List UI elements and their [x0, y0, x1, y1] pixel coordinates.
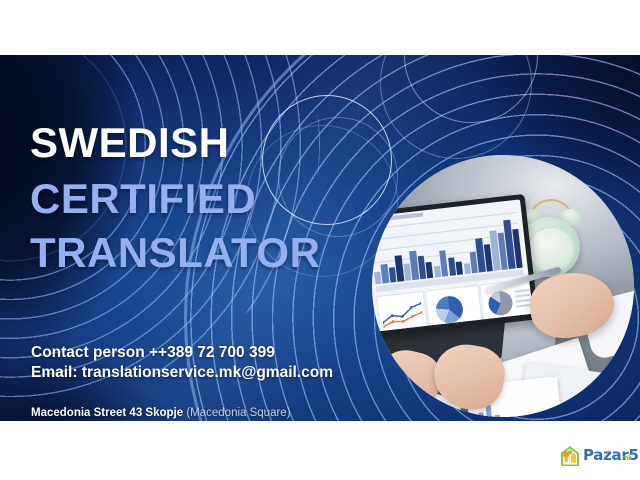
address-note: (Macedonia Square)	[186, 407, 290, 419]
pazar5-house-bag-icon	[558, 445, 582, 468]
pazar5-logo-suffix: .mk	[620, 455, 632, 462]
headline-block: SWEDISH CERTIFIED TRANSLATOR	[30, 118, 390, 278]
chart-bar	[448, 257, 456, 276]
dashboard-line-chart-panel	[376, 291, 428, 332]
headline-line-swedish: SWEDISH	[30, 118, 390, 168]
address-street: Macedonia Street 43 Skopje	[31, 407, 183, 419]
chart-gridline	[372, 212, 516, 230]
advertisement-banner-page: SWEDISH CERTIFIED TRANSLATOR Contact per…	[0, 0, 640, 480]
laptop-lid	[372, 194, 539, 338]
chart-bar	[417, 256, 426, 280]
chart-bar	[463, 263, 470, 274]
legend-row-2	[515, 294, 530, 298]
contact-phone-line: Contact person ++389 72 700 399	[31, 343, 431, 363]
pie-chart-small	[487, 290, 514, 317]
address-line: Macedonia Street 43 Skopje (Macedonia Sq…	[31, 405, 291, 421]
line-chart-svg	[381, 298, 424, 330]
clock-face	[527, 226, 575, 272]
chart-bar	[426, 262, 434, 278]
pie-chart-large	[435, 295, 465, 325]
headline-line-certified: CERTIFIED	[30, 174, 390, 224]
legend-row-3	[515, 299, 530, 303]
chart-bar	[434, 266, 441, 278]
contact-block: Contact person ++389 72 700 399 Email: t…	[31, 343, 431, 383]
legend-row-1	[514, 289, 529, 293]
headline-line-translator: TRANSLATOR	[30, 228, 390, 278]
dashboard-pie-chart-panel	[425, 285, 483, 332]
contact-email-line: Email: translationservice.mk@gmail.com	[31, 363, 431, 383]
pazar5-logo[interactable]: Pazar5 .mk	[558, 444, 630, 470]
banner-background: SWEDISH CERTIFIED TRANSLATOR Contact per…	[0, 55, 640, 421]
laptop-screen	[372, 199, 533, 331]
